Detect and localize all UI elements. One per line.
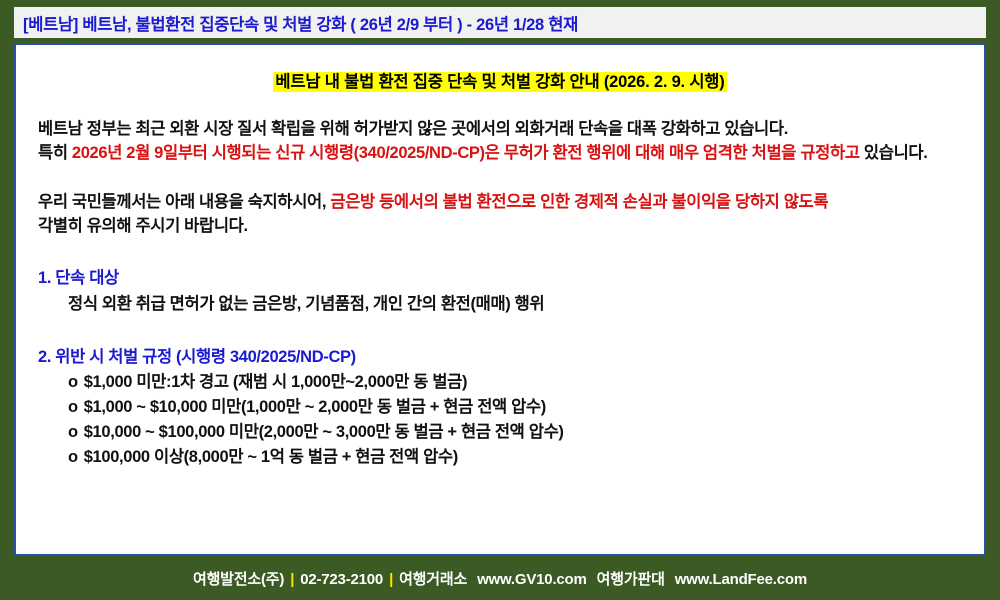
advisory-red: 금은방 등에서의 불법 환전으로 인한 경제적 손실과 불이익을 당하지 않도록: [330, 193, 828, 211]
section-2-heading: 2. 위반 시 처벌 규정 (시행령 340/2025/ND-CP): [38, 343, 984, 367]
footer-brand-1: 여행거래소: [399, 571, 467, 588]
document-title-highlight: 베트남 내 불법 환전 집중 단속 및 처벌 강화 안내 (2026. 2. 9…: [273, 72, 726, 92]
penalty-text: $10,000 ~ $100,000 미만(2,000만 ~ 3,000만 동 …: [84, 423, 564, 441]
list-item: o$1,000 미만:1차 경고 (재범 시 1,000만~2,000만 동 벌…: [68, 370, 984, 395]
section-1-body: 정식 외환 취급 면허가 없는 금은방, 기념품점, 개인 간의 환전(매매) …: [68, 292, 984, 317]
footer-site-2[interactable]: www.LandFee.com: [675, 571, 807, 588]
header-bar: [베트남] 베트남, 불법환전 집중단속 및 처벌 강화 ( 26년 2/9 부…: [14, 7, 986, 38]
penalty-text: $1,000 미만:1차 경고 (재범 시 1,000만~2,000만 동 벌금…: [84, 373, 467, 391]
intro-line-1: 베트남 정부는 최근 외환 시장 질서 확립을 위해 허가받지 않은 곳에서의 …: [38, 120, 788, 138]
penalty-text: $1,000 ~ $10,000 미만(1,000만 ~ 2,000만 동 벌금…: [84, 398, 546, 416]
advisory-suffix: 각별히 유의해 주시기 바랍니다.: [38, 217, 248, 235]
bullet-marker: o: [68, 448, 78, 466]
footer-company: 여행발전소(주): [193, 571, 284, 588]
header-title: [베트남] 베트남, 불법환전 집중단속 및 처벌 강화 ( 26년 2/9 부…: [23, 11, 578, 35]
document-title: 베트남 내 불법 환전 집중 단속 및 처벌 강화 안내 (2026. 2. 9…: [16, 68, 984, 92]
intro-paragraph: 베트남 정부는 최근 외환 시장 질서 확립을 위해 허가받지 않은 곳에서의 …: [38, 117, 966, 166]
bullet-marker: o: [68, 373, 78, 391]
advisory-prefix: 우리 국민들께서는 아래 내용을 숙지하시어,: [38, 193, 330, 211]
footer-contact-line: 여행발전소(주)|02-723-2100|여행거래소www.GV10.com여행…: [193, 568, 807, 589]
bullet-marker: o: [68, 423, 78, 441]
list-item: o$100,000 이상(8,000만 ~ 1억 동 벌금 + 현금 전액 압수…: [68, 445, 984, 470]
content-panel: 베트남 내 불법 환전 집중 단속 및 처벌 강화 안내 (2026. 2. 9…: [14, 43, 986, 556]
advisory-paragraph: 우리 국민들께서는 아래 내용을 숙지하시어, 금은방 등에서의 불법 환전으로…: [38, 190, 966, 239]
list-item: o$10,000 ~ $100,000 미만(2,000만 ~ 3,000만 동…: [68, 420, 984, 445]
footer-phone: 02-723-2100: [300, 571, 383, 588]
penalty-text: $100,000 이상(8,000만 ~ 1억 동 벌금 + 현금 전액 압수): [84, 448, 458, 466]
footer-separator: |: [389, 571, 393, 588]
intro-line-2-prefix: 특히: [38, 144, 72, 162]
intro-line-2-red: 2026년 2월 9일부터 시행되는 신규 시행령(340/2025/ND-CP…: [72, 144, 864, 162]
footer-site-1[interactable]: www.GV10.com: [477, 571, 587, 588]
footer-separator: |: [290, 571, 294, 588]
penalty-list: o$1,000 미만:1차 경고 (재범 시 1,000만~2,000만 동 벌…: [16, 370, 984, 470]
intro-line-2-suffix: 있습니다.: [864, 144, 928, 162]
bullet-marker: o: [68, 398, 78, 416]
section-1-heading: 1. 단속 대상: [38, 264, 984, 288]
footer-brand-2: 여행가판대: [597, 571, 665, 588]
poster-page: [베트남] 베트남, 불법환전 집중단속 및 처벌 강화 ( 26년 2/9 부…: [0, 0, 1000, 600]
footer-bar: 여행발전소(주)|02-723-2100|여행거래소www.GV10.com여행…: [0, 556, 1000, 600]
list-item: o$1,000 ~ $10,000 미만(1,000만 ~ 2,000만 동 벌…: [68, 395, 984, 420]
